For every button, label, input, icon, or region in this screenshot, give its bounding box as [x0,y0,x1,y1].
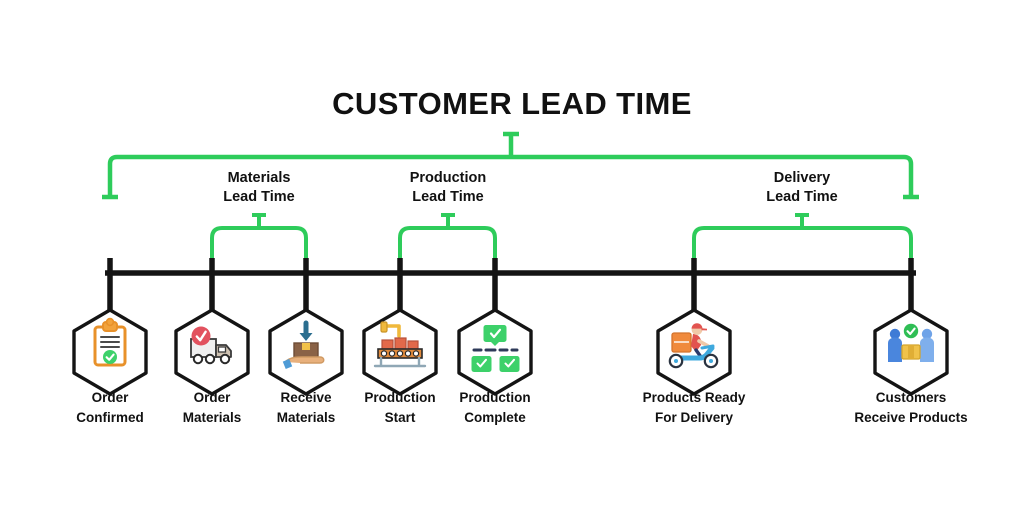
materials-lead-time-bracket [212,215,306,265]
materials-bracket-body [212,228,306,265]
node-caption-production-complete-line2: Complete [459,408,530,428]
node-caption-customers-receive-line1: Customers [854,388,967,408]
node-caption-production-start: Production Start [364,388,435,427]
node-caption-receive-materials-line1: Receive [277,388,336,408]
infographic-canvas: CUSTOMER LEAD TIME [0,0,1024,512]
node-hexagon-order-confirmed[interactable] [74,310,146,394]
node-hexagon-production-complete[interactable] [459,310,531,394]
phase-label-delivery-line2: Lead Time [722,188,882,207]
hexagon-outline [459,310,531,394]
production-lead-time-bracket [400,215,495,265]
node-hexagon-receive-materials[interactable] [270,310,342,394]
node-caption-production-start-line2: Start [364,408,435,428]
node-caption-production-complete-line1: Production [459,388,530,408]
node-caption-order-materials: Order Materials [183,388,242,427]
production-bracket-body [400,228,495,265]
phase-label-materials-line2: Lead Time [179,188,339,207]
hexagon-outline [176,310,248,394]
timeline-node-stems [110,258,911,312]
timeline-artwork [0,0,1024,512]
node-caption-order-confirmed-line1: Order [76,388,144,408]
hexagon-outline [875,310,947,394]
page-title: CUSTOMER LEAD TIME [0,84,1024,124]
node-caption-order-confirmed-line2: Confirmed [76,408,144,428]
node-caption-customers-receive-line2: Receive Products [854,408,967,428]
node-caption-production-start-line1: Production [364,388,435,408]
node-caption-products-ready-line1: Products Ready [643,388,746,408]
phase-label-production-line1: Production [368,169,528,188]
node-hexagon-customers-receive[interactable] [875,310,947,394]
node-caption-order-confirmed: Order Confirmed [76,388,144,427]
phase-label-production: Production Lead Time [368,169,528,207]
delivery-scooter-icon [670,323,717,367]
node-caption-production-complete: Production Complete [459,388,530,427]
node-caption-products-ready: Products Ready For Delivery [643,388,746,427]
node-caption-order-materials-line2: Materials [183,408,242,428]
phase-label-delivery: Delivery Lead Time [722,169,882,207]
truck-check-icon [191,327,231,364]
node-hexagon-products-ready[interactable] [658,310,730,394]
phase-label-materials-line1: Materials [179,169,339,188]
handover-box-icon [888,324,934,362]
node-caption-products-ready-line2: For Delivery [643,408,746,428]
delivery-bracket-body [694,228,911,265]
clipboard-check-icon [95,319,125,365]
hexagon-outline [658,310,730,394]
phase-label-delivery-line1: Delivery [722,169,882,188]
delivery-lead-time-bracket [694,215,911,265]
hexagon-outline [74,310,146,394]
node-caption-customers-receive: Customers Receive Products [854,388,967,427]
checklist-nodes-icon [472,325,520,372]
node-caption-receive-materials-line2: Materials [277,408,336,428]
phase-label-materials: Materials Lead Time [179,169,339,207]
phase-label-production-line2: Lead Time [368,188,528,207]
node-hexagon-production-start[interactable] [364,310,436,394]
node-caption-order-materials-line1: Order [183,388,242,408]
hexagon-outline [364,310,436,394]
conveyor-belt-icon [375,322,425,366]
node-hexagon-order-materials[interactable] [176,310,248,394]
hand-package-icon [283,323,324,369]
hexagon-outline [270,310,342,394]
node-caption-receive-materials: Receive Materials [277,388,336,427]
